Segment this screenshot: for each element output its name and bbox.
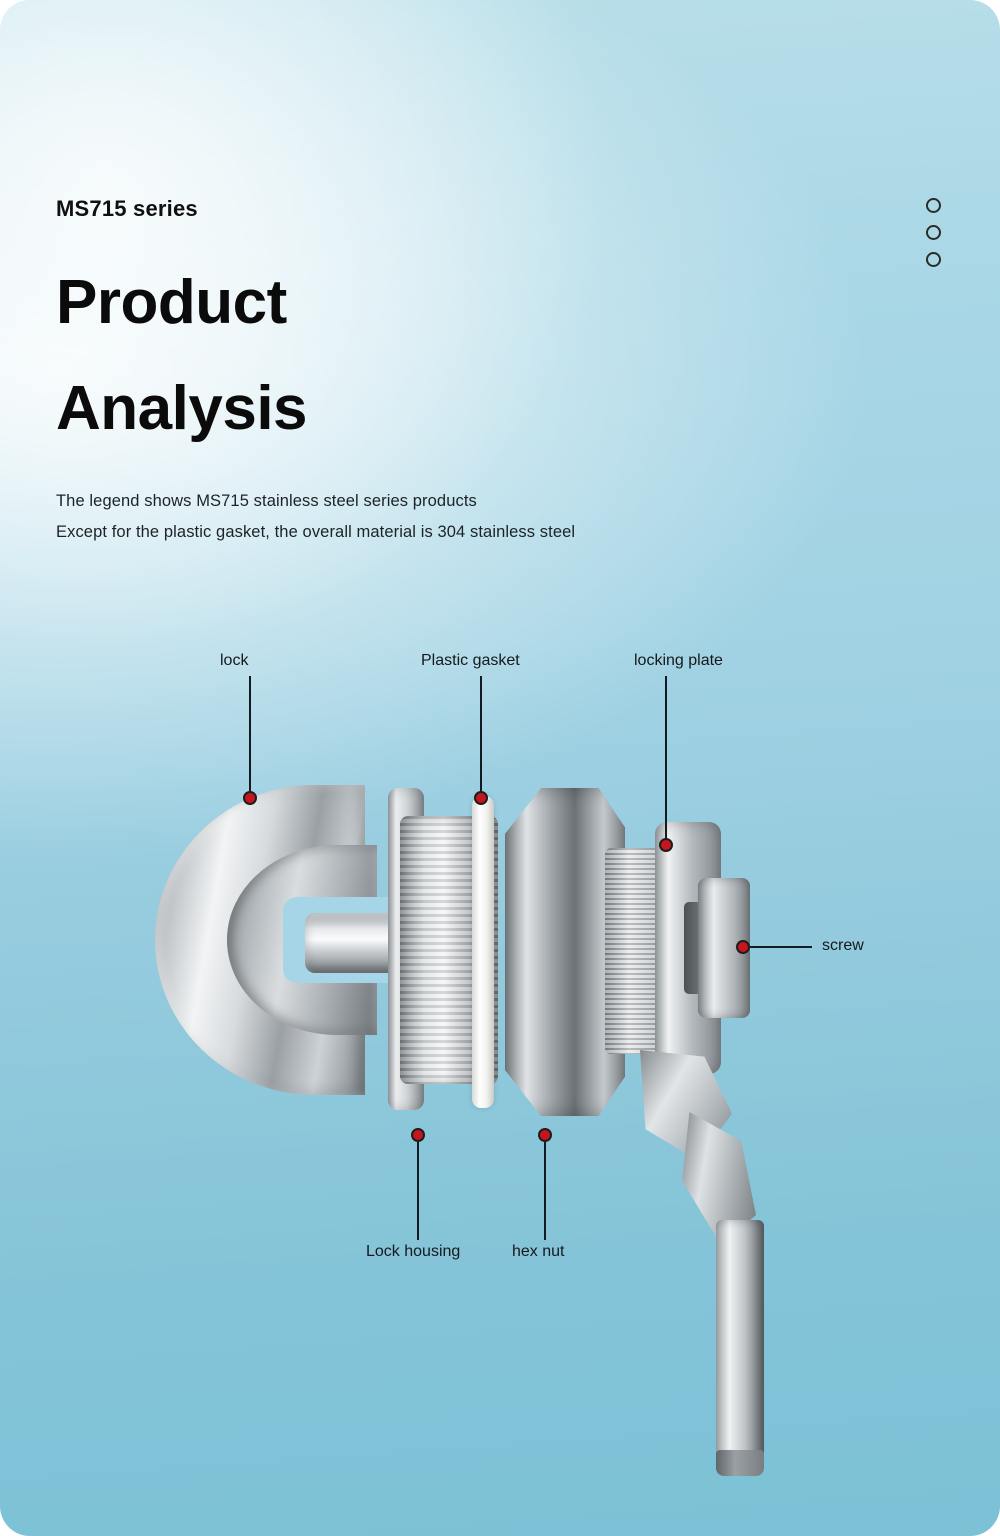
leader-line-hex-nut [544, 1142, 546, 1240]
plastic-gasket-part [472, 796, 494, 1108]
cam-segment-lower [716, 1220, 764, 1470]
page-title-line2: Analysis [56, 378, 307, 440]
background-panel: MS715 series Product Analysis The legend… [0, 0, 1000, 1536]
product-analysis-page: MS715 series Product Analysis The legend… [0, 0, 1000, 1536]
leader-line-plastic-gasket [480, 676, 482, 798]
callout-dot-lock-housing [411, 1128, 425, 1142]
cam-lever-arm [620, 1050, 780, 1470]
decorative-circles [926, 198, 946, 279]
callout-dot-lock [243, 791, 257, 805]
callout-dot-screw [736, 940, 750, 954]
callout-label-hex-nut: hex nut [512, 1243, 564, 1261]
leader-line-screw [750, 946, 812, 948]
cam-tip [716, 1450, 764, 1476]
product-photo [150, 770, 830, 1510]
page-title-line1: Product [56, 272, 287, 334]
callout-label-plastic-gasket: Plastic gasket [421, 652, 520, 670]
knob-handle [155, 785, 395, 1105]
circle-icon [926, 252, 941, 267]
leader-line-locking-plate [665, 676, 667, 845]
callout-label-screw: screw [822, 937, 864, 955]
description-line1: The legend shows MS715 stainless steel s… [56, 492, 477, 511]
callout-label-lock-housing: Lock housing [366, 1243, 460, 1261]
leader-line-lock [249, 676, 251, 798]
series-eyebrow: MS715 series [56, 196, 198, 222]
callout-dot-plastic-gasket [474, 791, 488, 805]
callout-label-lock: lock [220, 652, 248, 670]
callout-dot-hex-nut [538, 1128, 552, 1142]
description-line2: Except for the plastic gasket, the overa… [56, 523, 575, 542]
circle-icon [926, 198, 941, 213]
leader-line-lock-housing [417, 1142, 419, 1240]
circle-icon [926, 225, 941, 240]
callout-label-locking-plate: locking plate [634, 652, 723, 670]
callout-dot-locking-plate [659, 838, 673, 852]
